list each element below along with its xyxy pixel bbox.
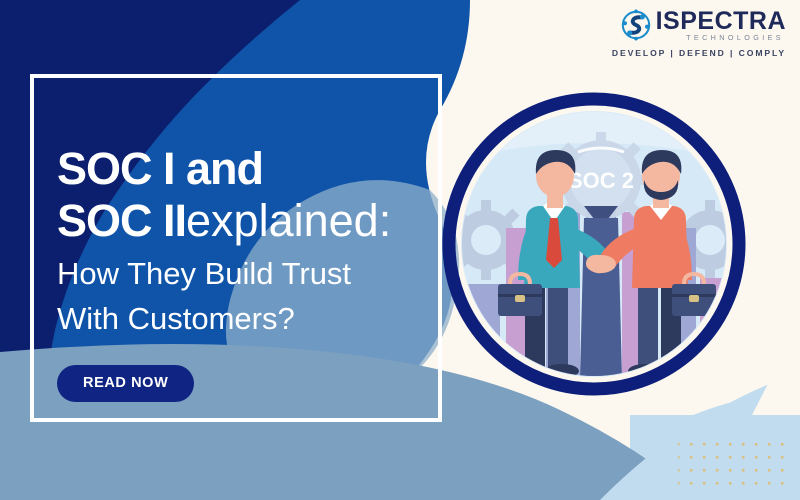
headline-line-4: With Customers? — [57, 296, 457, 341]
headline-line-2: SOC IIexplained: — [57, 195, 457, 247]
brand-tagline: DEVELOP | DEFEND | COMPLY — [612, 48, 786, 58]
read-now-button[interactable]: READ NOW — [57, 365, 194, 402]
headline-line-1: SOC I and — [57, 143, 457, 195]
soc2-badge-label: SOC 2 — [568, 168, 634, 193]
ispectra-swirl-icon — [619, 8, 653, 42]
brand-name: ISPECTRA — [656, 8, 786, 34]
soc2-handshake-illustration: SOC 2 — [438, 88, 750, 400]
brand-logo[interactable]: ISPECTRA TECHNOLOGIES DEVELOP | DEFEND |… — [612, 8, 786, 58]
headline-line-2-bold: SOC II — [57, 195, 186, 246]
headline-group: SOC I and SOC IIexplained: How They Buil… — [57, 143, 457, 341]
blog-promo-banner: SOC I and SOC IIexplained: How They Buil… — [0, 0, 800, 500]
handshake — [586, 255, 616, 273]
headline-line-3: How They Build Trust — [57, 251, 457, 296]
headline-line-2-light: explained: — [186, 195, 391, 246]
logo-row: ISPECTRA TECHNOLOGIES — [612, 8, 786, 42]
